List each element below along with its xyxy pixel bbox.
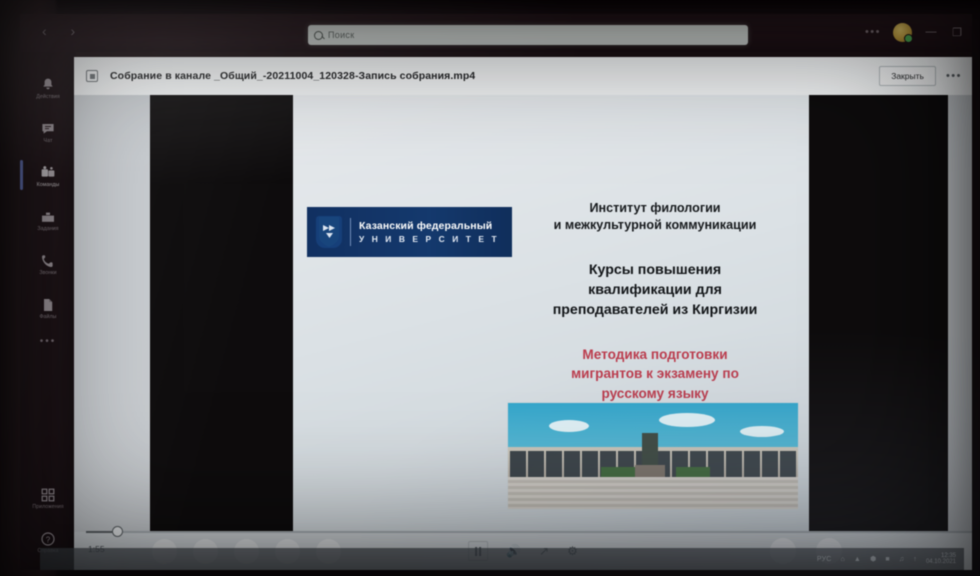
search-input[interactable]: Поиск [308, 25, 748, 45]
slide-course-line-3: преподавателей из Киргизии [505, 300, 805, 320]
sidebar-item-label: Звонки [39, 270, 56, 276]
nav-chevrons[interactable]: ‹ › [42, 21, 98, 41]
tray-icon[interactable]: ■ [885, 556, 889, 563]
letterbox-left [150, 95, 293, 532]
slide-topic-line-3: русскому языку [509, 384, 801, 403]
slide-course-line-1: Курсы повышения [505, 260, 805, 280]
video-file-icon [86, 70, 98, 82]
kfu-logo: Казанский федеральный У Н И В Е Р С И Т … [307, 207, 512, 257]
search-icon [314, 31, 323, 40]
seek-handle[interactable] [112, 526, 123, 537]
sidebar-item-activity[interactable]: Действия [20, 66, 76, 110]
sidebar-item-chat[interactable]: Чат [20, 110, 76, 154]
avatar[interactable] [893, 23, 912, 42]
close-button[interactable]: Закрыть [879, 66, 936, 86]
language-indicator[interactable]: РУС [817, 556, 832, 563]
sidebar-item-label: Приложения [32, 504, 63, 510]
tray-icon[interactable]: ▲ [854, 556, 861, 563]
slide-institute-line-1: Институт филологии [505, 200, 805, 217]
assignments-icon [40, 209, 56, 225]
teams-titlebar: ‹ › Поиск ••• — ❐ [20, 14, 972, 52]
slide-topic-line-2: мигрантов к экзамену по [509, 364, 801, 383]
photo-cloud [659, 413, 715, 427]
tray-icon[interactable]: ♫ [899, 556, 904, 563]
slide-course-line-2: квалификации для [505, 280, 805, 300]
slide-institute: Институт филологии и межкультурной комму… [505, 200, 805, 235]
sidebar-item-label: Действия [36, 94, 60, 100]
teams-icon [40, 165, 56, 181]
settings-more-icon[interactable]: ••• [865, 26, 881, 38]
sidebar-item-teams[interactable]: Команды [20, 154, 76, 198]
sidebar-item-label: Чат [44, 138, 53, 144]
chat-icon [40, 121, 56, 137]
logo-line-2: У Н И В Е Р С И Т Е Т [359, 234, 499, 244]
sidebar-item-label: Задания [37, 226, 58, 232]
more-options-icon[interactable]: ••• [946, 70, 962, 82]
bell-icon [40, 77, 56, 93]
slide-photo [507, 402, 799, 510]
logo-line-1: Казанский федеральный [359, 220, 499, 232]
sidebar-item-calls[interactable]: Звонки [20, 242, 76, 286]
photo-steps [508, 477, 798, 509]
tray-icon[interactable]: ↑ [913, 556, 917, 563]
minimize-button[interactable]: — [924, 26, 938, 38]
chevron-left-icon[interactable]: ‹ › [42, 23, 85, 39]
sidebar-item-files[interactable]: Файлы [20, 286, 76, 330]
clock-date: 04.10.2021 [926, 559, 956, 565]
video-player-modal: Собрание в канале _Общий_-20211004_12032… [74, 57, 972, 570]
help-circle-icon: ? [40, 531, 56, 547]
slide-institute-line-2: и межкультурной коммуникации [505, 217, 805, 234]
search-placeholder: Поиск [328, 30, 354, 40]
logo-divider [350, 218, 351, 246]
tray-icon[interactable]: ⌂ [840, 556, 844, 563]
slide-course-title: Курсы повышения квалификации для препода… [505, 260, 805, 320]
maximize-button[interactable]: ❐ [950, 26, 964, 39]
phone-icon [40, 253, 56, 269]
page-title: Собрание в канале _Общий_-20211004_12032… [110, 70, 475, 82]
photographed-monitor: ‹ › Поиск ••• — ❐ Действия [0, 0, 980, 576]
kfu-crest-icon [316, 216, 342, 248]
window-controls: ••• — ❐ [865, 20, 964, 44]
letterbox-right [809, 95, 948, 532]
sidebar-item-label: Команды [37, 182, 60, 188]
clock[interactable]: 12:35 04.10.2021 [926, 553, 956, 566]
presentation-slide: Казанский федеральный У Н И В Е Р С И Т … [293, 95, 809, 532]
tray-icon[interactable]: ⬢ [870, 555, 876, 563]
sidebar-item-assignments[interactable]: Задания [20, 198, 76, 242]
svg-text:?: ? [46, 535, 51, 544]
sidebar-overflow-icon[interactable]: ••• [20, 330, 76, 360]
sidebar-item-apps[interactable]: Приложения [20, 476, 76, 520]
files-icon [40, 297, 56, 313]
teams-window: ‹ › Поиск ••• — ❐ Действия [20, 14, 972, 570]
photo-cloud [549, 420, 589, 432]
sidebar-item-label: Файлы [40, 314, 57, 320]
sidebar-rail: Действия Чат Команды [20, 52, 76, 570]
windows-taskbar: РУС ⌂ ▲ ⬢ ■ ♫ ↑ 12:35 04.10.2021 [40, 548, 964, 570]
apps-grid-icon [40, 487, 56, 503]
modal-header: Собрание в канале _Общий_-20211004_12032… [74, 57, 972, 95]
slide-topic-line-1: Методика подготовки [509, 345, 801, 364]
slide-topic-title: Методика подготовки мигрантов к экзамену… [509, 345, 801, 403]
video-stage[interactable]: Казанский федеральный У Н И В Е Р С И Т … [74, 95, 972, 532]
